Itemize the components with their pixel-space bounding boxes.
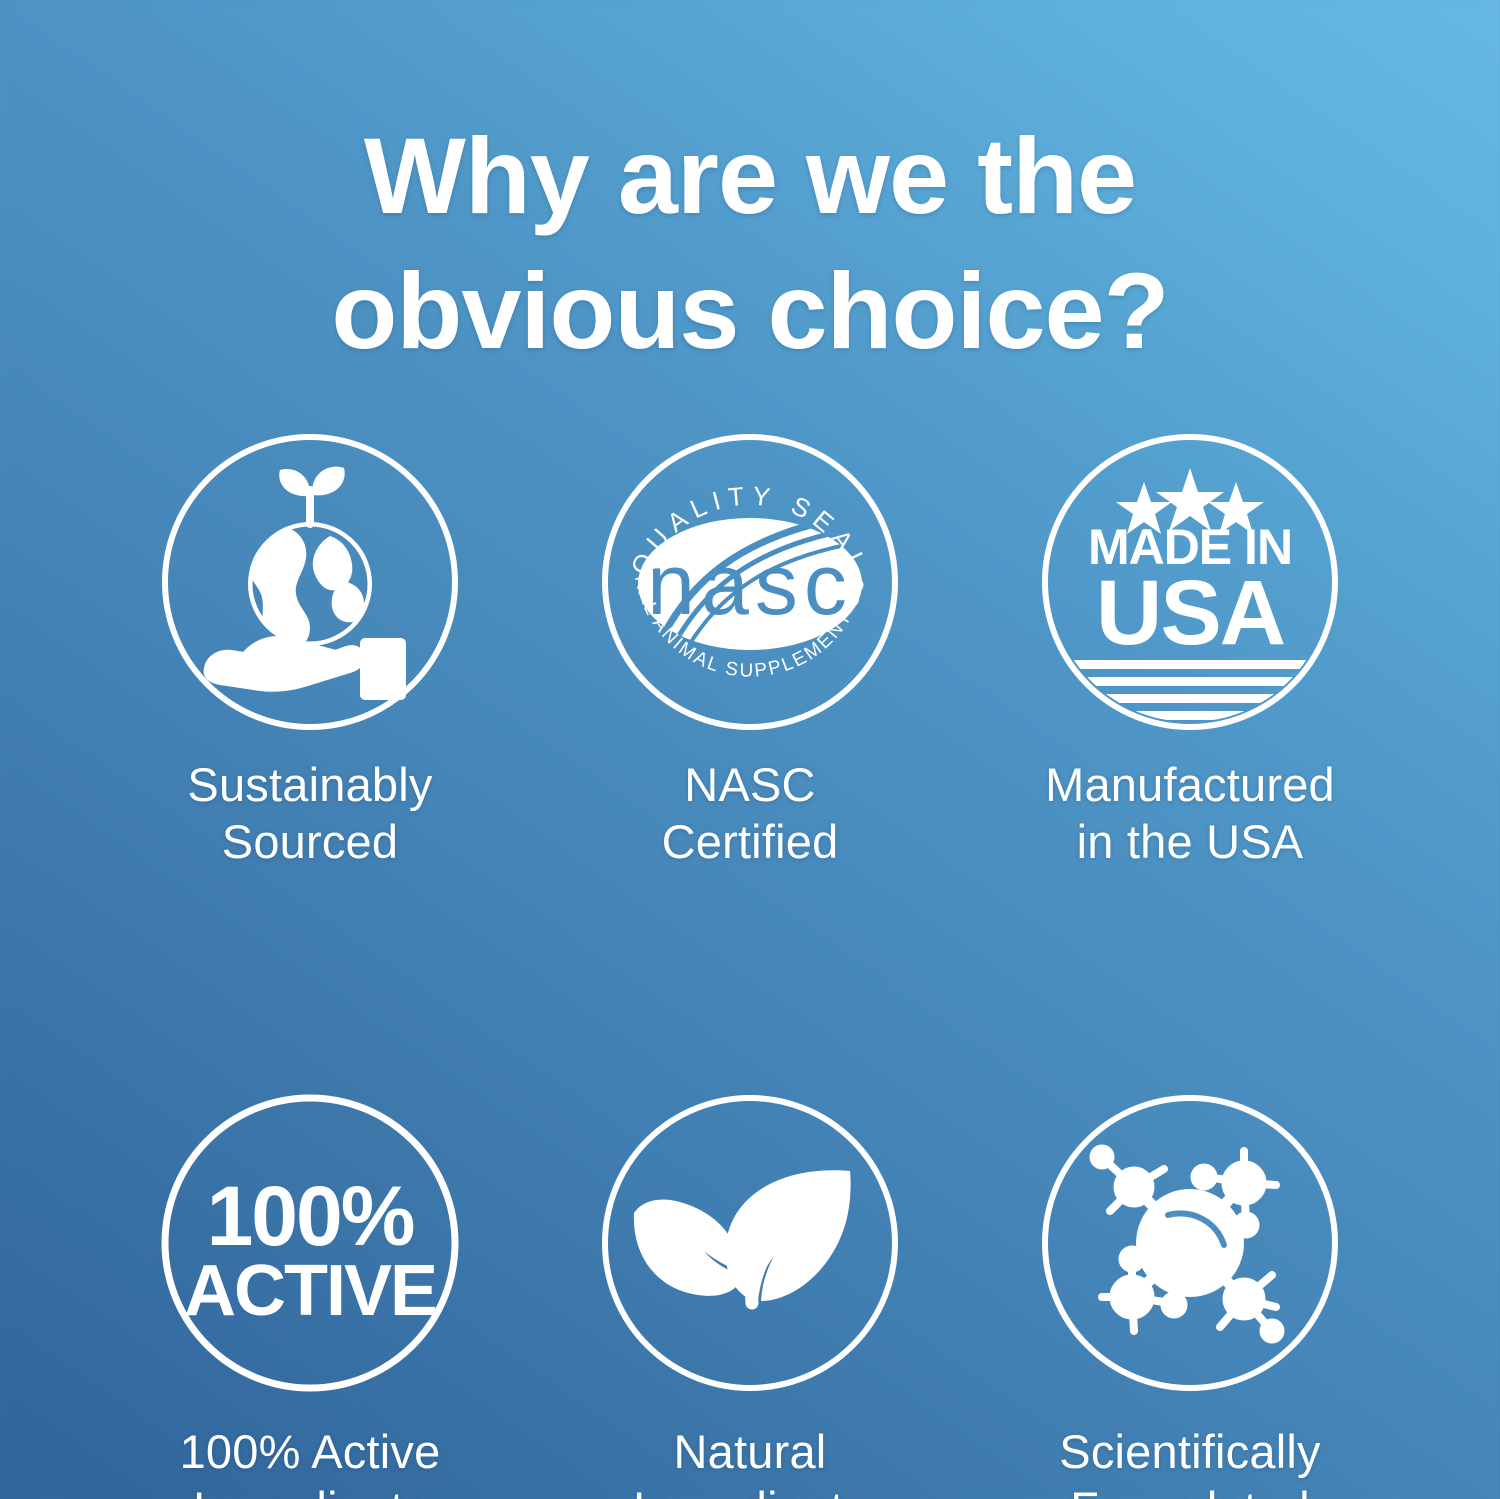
- benefit-caption-line-2: in the USA: [1045, 813, 1335, 870]
- page-title-line-2: obvious choice?: [0, 243, 1500, 378]
- benefit-item-nasc-certified: nasc QUALITY SEAL NATIONAL ANIMAL SUPPLE…: [530, 432, 970, 871]
- made-in-usa-icon: MADE IN USA: [1040, 432, 1340, 732]
- hundred-percent-text: 100%: [207, 1169, 414, 1263]
- benefit-caption-line-1: Manufactured: [1045, 756, 1335, 813]
- page-title-line-1: Why are we the: [0, 108, 1500, 243]
- usa-text: USA: [1096, 562, 1285, 664]
- benefit-caption-line-2: Formulated: [1059, 1480, 1320, 1499]
- benefit-caption-line-1: Sustainably: [187, 756, 432, 813]
- benefit-caption-line-2: Certified: [662, 813, 839, 870]
- benefit-caption-line-1: NASC: [662, 756, 839, 813]
- nasc-quality-seal-icon: nasc QUALITY SEAL NATIONAL ANIMAL SUPPLE…: [600, 432, 900, 732]
- benefit-caption-line-2: Ingredients: [180, 1480, 441, 1499]
- benefit-item-made-in-usa: MADE IN USA Manufactu: [970, 432, 1410, 871]
- benefit-caption-line-1: Scientifically: [1059, 1423, 1320, 1480]
- benefit-caption-line-2: Ingredients: [633, 1480, 868, 1499]
- hundred-percent-active-icon: 100% ACTIVE: [160, 1093, 460, 1393]
- two-leaves-icon: [600, 1093, 900, 1393]
- benefit-caption: NASC Certified: [662, 756, 839, 871]
- page-title: Why are we the obvious choice?: [0, 108, 1500, 378]
- benefit-item-scientifically-formulated: Scientifically Formulated: [970, 1093, 1410, 1499]
- benefit-caption-line-2: Sourced: [187, 813, 432, 870]
- nasc-wordmark: nasc: [647, 537, 853, 633]
- benefit-caption-line-1: 100% Active: [180, 1423, 441, 1480]
- globe-in-hand-with-sprout-icon: [160, 432, 460, 732]
- benefits-row-2: 100% ACTIVE 100% Active Ingredients: [90, 1093, 1410, 1499]
- benefit-caption: Manufactured in the USA: [1045, 756, 1335, 871]
- benefit-caption-line-1: Natural: [633, 1423, 868, 1480]
- benefit-caption: 100% Active Ingredients: [180, 1423, 441, 1499]
- benefit-item-100-percent-active: 100% ACTIVE 100% Active Ingredients: [90, 1093, 530, 1499]
- benefit-item-sustainably-sourced: Sustainably Sourced: [90, 432, 530, 871]
- benefit-caption: Natural Ingredients: [633, 1423, 868, 1499]
- benefit-caption: Sustainably Sourced: [187, 756, 432, 871]
- promo-infographic: Why are we the obvious choice?: [0, 0, 1500, 1499]
- benefits-row-1: Sustainably Sourced: [90, 432, 1410, 871]
- benefit-caption: Scientifically Formulated: [1059, 1423, 1320, 1499]
- molecule-icon: [1040, 1093, 1340, 1393]
- benefits-grid: Sustainably Sourced: [90, 432, 1410, 1499]
- benefit-item-natural-ingredients: Natural Ingredients: [530, 1093, 970, 1499]
- active-text: ACTIVE: [184, 1251, 436, 1331]
